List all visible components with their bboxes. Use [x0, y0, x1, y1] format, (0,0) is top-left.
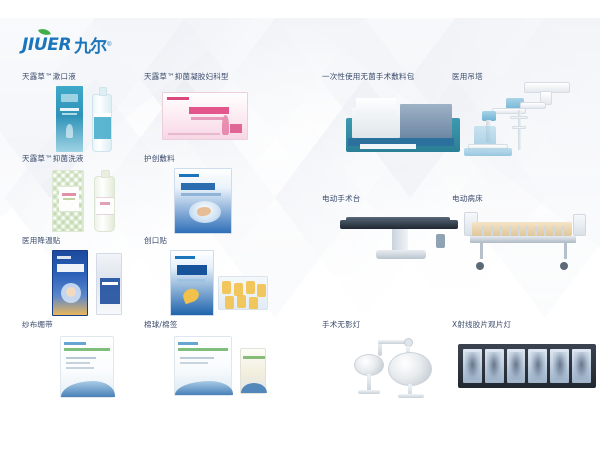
brand-logo: JIUER 九尔 ®: [22, 32, 112, 57]
product-catalog-poster: JIUER 九尔 ® 天露草™漱口液 天露草™抑菌洗液 医用降温贴 纱布绷带 天…: [0, 0, 600, 450]
brand-logo-cn: 九尔: [74, 32, 106, 57]
band-aid-box-icon: [144, 250, 294, 320]
product-label: 天露草™漱口液: [22, 72, 142, 82]
product-label: 纱布绷带: [22, 320, 142, 330]
gel-box-icon: [144, 86, 294, 158]
product-cell-medical-pendant[interactable]: 医用吊塔: [452, 72, 600, 160]
product-label: 棉球/棉签: [144, 320, 294, 330]
product-label: X射线胶片观片灯: [452, 320, 600, 330]
mouthwash-bottle-icon: [22, 86, 142, 158]
product-cell-antibacterial-lotion[interactable]: 天露草™抑菌洗液: [22, 154, 142, 238]
xray-viewer-icon: [452, 334, 600, 394]
product-label: 创口贴: [144, 236, 294, 246]
product-cell-cooling-patch[interactable]: 医用降温贴: [22, 236, 142, 320]
brand-logo-latin: JIUER: [22, 35, 71, 55]
wound-dressing-box-icon: [144, 168, 294, 238]
product-cell-antibacterial-gel[interactable]: 天露草™抑菌凝胶妇科型: [144, 72, 294, 158]
cotton-bag-icon: [144, 334, 294, 402]
cooling-patch-box-icon: [22, 250, 142, 320]
hospital-bed-icon: [452, 208, 600, 278]
product-label: 护创敷料: [144, 154, 294, 164]
product-cell-wound-dressing[interactable]: 护创敷料: [144, 154, 294, 238]
product-label: 医用降温贴: [22, 236, 142, 246]
product-cell-cotton[interactable]: 棉球/棉签: [144, 320, 294, 402]
product-label: 天露草™抑菌洗液: [22, 154, 142, 164]
product-label: 电动病床: [452, 194, 600, 204]
product-cell-band-aid[interactable]: 创口贴: [144, 236, 294, 320]
product-label: 医用吊塔: [452, 72, 600, 82]
product-cell-xray-viewer[interactable]: X射线胶片观片灯: [452, 320, 600, 394]
registered-mark-icon: ®: [107, 42, 111, 48]
product-cell-gauze-bandage[interactable]: 纱布绷带: [22, 320, 142, 402]
product-cell-hospital-bed[interactable]: 电动病床: [452, 194, 600, 278]
product-cell-mouthwash[interactable]: 天露草™漱口液: [22, 72, 142, 158]
product-label: 天露草™抑菌凝胶妇科型: [144, 72, 294, 82]
medical-pendant-icon: [452, 86, 600, 160]
gauze-bandage-bag-icon: [22, 334, 142, 402]
lotion-bottle-icon: [22, 168, 142, 238]
